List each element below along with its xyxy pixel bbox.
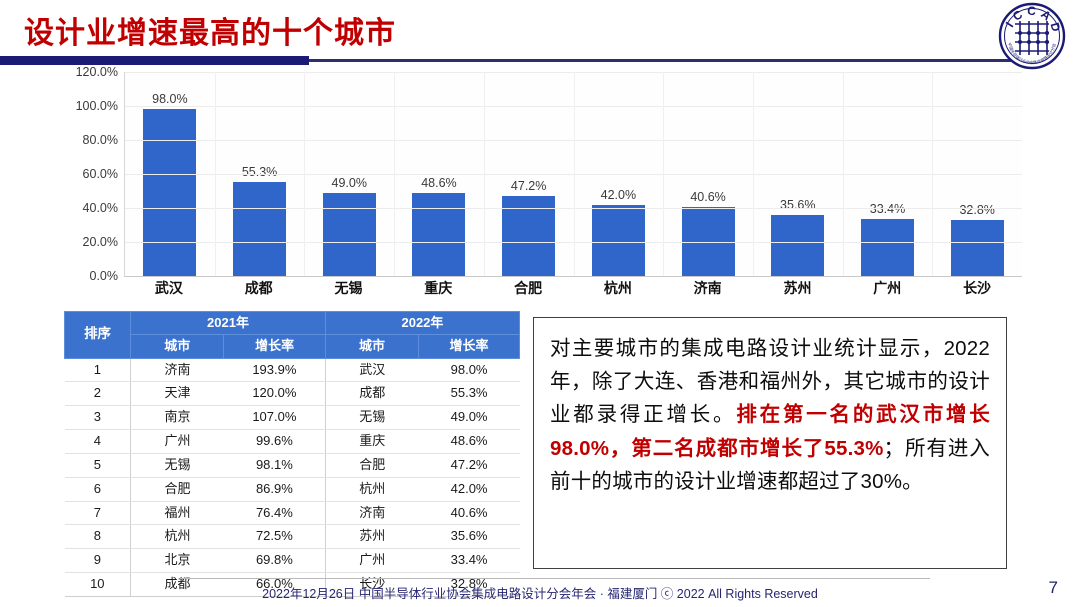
- cell-rate-2021: 76.4%: [224, 501, 326, 525]
- table-row: 2天津120.0%成都55.3%: [65, 382, 520, 406]
- cell-city-2022: 无锡: [325, 406, 418, 430]
- y-axis-tick-label: 80.0%: [83, 133, 118, 147]
- table-head-row-group: 排序 2021年 2022年: [65, 312, 520, 335]
- chart-gridline-vertical: [753, 72, 754, 276]
- iccad-logo: ICCAD 中国半导体行业协会集成电路设计分会: [998, 2, 1066, 70]
- commentary-text: 对主要城市的集成电路设计业统计显示，2022年，除了大连、香港和福州外，其它城市…: [550, 332, 990, 498]
- cell-rate-2022: 33.4%: [419, 549, 520, 573]
- page-number: 7: [1049, 578, 1058, 598]
- chart-gridline-vertical: [304, 72, 305, 276]
- cell-rate-2021: 98.1%: [224, 453, 326, 477]
- chart-gridline-vertical: [484, 72, 485, 276]
- cell-rank: 2: [65, 382, 131, 406]
- table-row: 1济南193.9%武汉98.0%: [65, 358, 520, 382]
- chart-gridline-vertical: [574, 72, 575, 276]
- cell-rank: 9: [65, 549, 131, 573]
- cell-city-2022: 广州: [325, 549, 418, 573]
- y-axis-tick-label: 100.0%: [76, 99, 118, 113]
- table-row: 9北京69.8%广州33.4%: [65, 549, 520, 573]
- col-header-rate-2022: 增长率: [419, 335, 520, 358]
- x-axis-tick-label: 广州: [842, 278, 932, 298]
- col-header-2021: 2021年: [131, 312, 326, 335]
- col-header-rate-2021: 增长率: [224, 335, 326, 358]
- chart-gridline-vertical: [932, 72, 933, 276]
- table-body: 1济南193.9%武汉98.0%2天津120.0%成都55.3%3南京107.0…: [65, 358, 520, 596]
- x-axis-tick-label: 苏州: [753, 278, 843, 298]
- col-header-2022: 2022年: [325, 312, 519, 335]
- table-row: 4广州99.6%重庆48.6%: [65, 430, 520, 454]
- cell-rate-2021: 86.9%: [224, 477, 326, 501]
- cell-city-2021: 南京: [131, 406, 224, 430]
- x-axis-tick-label: 成都: [214, 278, 304, 298]
- bar-value-label: 40.6%: [690, 190, 725, 204]
- bar-value-label: 55.3%: [242, 165, 277, 179]
- chart-gridline-vertical: [843, 72, 844, 276]
- cell-rate-2022: 40.6%: [419, 501, 520, 525]
- svg-text:ICCAD: ICCAD: [1003, 4, 1065, 37]
- bar-value-label: 33.4%: [870, 202, 905, 216]
- cell-city-2021: 广州: [131, 430, 224, 454]
- cell-rate-2021: 120.0%: [224, 382, 326, 406]
- cell-city-2021: 天津: [131, 382, 224, 406]
- table-row: 3南京107.0%无锡49.0%: [65, 406, 520, 430]
- cell-rank: 1: [65, 358, 131, 382]
- x-axis-tick-label: 济南: [663, 278, 753, 298]
- col-header-rank: 排序: [65, 312, 131, 359]
- cell-city-2021: 北京: [131, 549, 224, 573]
- bar-value-label: 48.6%: [421, 176, 456, 190]
- bar-value-label: 98.0%: [152, 92, 187, 106]
- cell-rank: 4: [65, 430, 131, 454]
- col-header-city-2021: 城市: [131, 335, 224, 358]
- cell-rate-2021: 107.0%: [224, 406, 326, 430]
- y-axis-tick-label: 20.0%: [83, 235, 118, 249]
- page-title: 设计业增速最高的十个城市: [24, 8, 396, 52]
- cell-city-2022: 合肥: [325, 453, 418, 477]
- x-axis-tick-label: 合肥: [483, 278, 573, 298]
- cell-rate-2021: 193.9%: [224, 358, 326, 382]
- table-row: 5无锡98.1%合肥47.2%: [65, 453, 520, 477]
- cell-city-2022: 重庆: [325, 430, 418, 454]
- cell-rate-2022: 98.0%: [419, 358, 520, 382]
- cell-rank: 8: [65, 525, 131, 549]
- commentary-box: 对主要城市的集成电路设计业统计显示，2022年，除了大连、香港和福州外，其它城市…: [533, 317, 1007, 569]
- cell-rank: 3: [65, 406, 131, 430]
- chart-bar: [592, 205, 645, 276]
- cell-city-2021: 福州: [131, 501, 224, 525]
- y-axis-tick-label: 0.0%: [90, 269, 119, 283]
- cell-city-2022: 杭州: [325, 477, 418, 501]
- chart-gridline-vertical: [394, 72, 395, 276]
- chart-y-axis: 120.0%100.0%80.0%60.0%40.0%20.0%0.0%: [62, 72, 124, 276]
- cell-city-2022: 成都: [325, 382, 418, 406]
- footer-text: 2022年12月26日 中国半导体行业协会集成电路设计分会年会 · 福建厦门 ⓒ…: [0, 583, 1080, 602]
- cell-rank: 6: [65, 477, 131, 501]
- cell-city-2021: 杭州: [131, 525, 224, 549]
- x-axis-tick-label: 杭州: [573, 278, 663, 298]
- table-head: 排序 2021年 2022年 城市 增长率 城市 增长率: [65, 312, 520, 359]
- y-axis-tick-label: 120.0%: [76, 65, 118, 79]
- cell-rate-2021: 69.8%: [224, 549, 326, 573]
- chart-gridline-vertical: [663, 72, 664, 276]
- cell-city-2022: 苏州: [325, 525, 418, 549]
- cell-rate-2022: 48.6%: [419, 430, 520, 454]
- x-axis-tick-label: 无锡: [304, 278, 394, 298]
- title-underline-thin: [309, 59, 1011, 62]
- city-growth-table: 排序 2021年 2022年 城市 增长率 城市 增长率 1济南193.9%武汉…: [64, 311, 520, 597]
- cell-rank: 7: [65, 501, 131, 525]
- bar-value-label: 42.0%: [601, 188, 636, 202]
- chart-plot-area: 98.0%55.3%49.0%48.6%47.2%42.0%40.6%35.6%…: [124, 72, 1022, 277]
- chart-bar: [771, 215, 824, 276]
- chart-bar: [951, 220, 1004, 276]
- chart-bar: [323, 193, 376, 276]
- x-axis-tick-label: 重庆: [393, 278, 483, 298]
- bar-value-label: 47.2%: [511, 179, 546, 193]
- chart-bar: [861, 219, 914, 276]
- col-header-city-2022: 城市: [325, 335, 418, 358]
- title-underline-thick: [0, 56, 309, 65]
- bar-value-label: 35.6%: [780, 198, 815, 212]
- cell-rate-2022: 55.3%: [419, 382, 520, 406]
- chart-bar: [143, 109, 196, 276]
- cell-city-2021: 无锡: [131, 453, 224, 477]
- table-row: 8杭州72.5%苏州35.6%: [65, 525, 520, 549]
- table-row: 6合肥86.9%杭州42.0%: [65, 477, 520, 501]
- table-head-row-sub: 城市 增长率 城市 增长率: [65, 335, 520, 358]
- cell-city-2022: 济南: [325, 501, 418, 525]
- cell-rate-2021: 99.6%: [224, 430, 326, 454]
- chart-x-axis: 武汉成都无锡重庆合肥杭州济南苏州广州长沙: [124, 278, 1022, 298]
- chart-gridline-vertical: [215, 72, 216, 276]
- cell-rate-2021: 72.5%: [224, 525, 326, 549]
- table-row: 7福州76.4%济南40.6%: [65, 501, 520, 525]
- cell-city-2021: 济南: [131, 358, 224, 382]
- cell-rate-2022: 47.2%: [419, 453, 520, 477]
- footer-divider: [180, 578, 930, 579]
- cell-city-2022: 武汉: [325, 358, 418, 382]
- cell-rank: 5: [65, 453, 131, 477]
- cell-rate-2022: 35.6%: [419, 525, 520, 549]
- cell-city-2021: 合肥: [131, 477, 224, 501]
- x-axis-tick-label: 武汉: [124, 278, 214, 298]
- y-axis-tick-label: 40.0%: [83, 201, 118, 215]
- growth-bar-chart: 120.0%100.0%80.0%60.0%40.0%20.0%0.0% 98.…: [62, 72, 1022, 300]
- cell-rate-2022: 49.0%: [419, 406, 520, 430]
- cell-rate-2022: 42.0%: [419, 477, 520, 501]
- y-axis-tick-label: 60.0%: [83, 167, 118, 181]
- chart-bar: [412, 193, 465, 276]
- bar-value-label: 32.8%: [959, 203, 994, 217]
- x-axis-tick-label: 长沙: [932, 278, 1022, 298]
- chart-bar: [233, 182, 286, 276]
- bar-value-label: 49.0%: [332, 176, 367, 190]
